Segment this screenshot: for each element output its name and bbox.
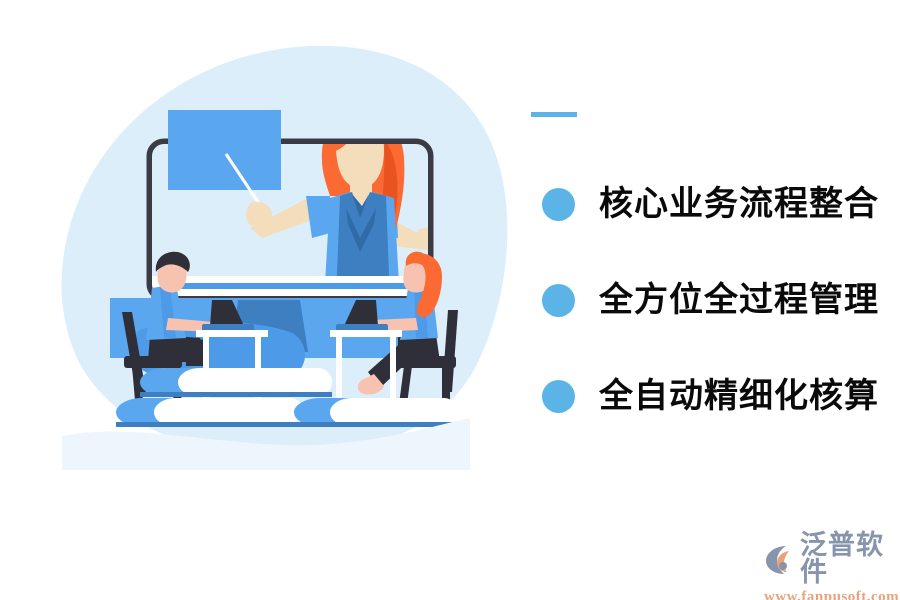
brand-top-row: 泛普软件 xyxy=(762,532,900,586)
feature-item-1[interactable]: 核心业务流程整合 xyxy=(542,156,892,252)
accent-rule xyxy=(531,112,577,117)
feature-label: 全方位全过程管理 xyxy=(599,283,879,317)
brand-url: www.fanpusoft.com xyxy=(764,589,899,600)
video-progress-bar[interactable] xyxy=(152,276,428,296)
feature-item-3[interactable]: 全自动精细化核算 xyxy=(542,348,892,444)
illustration xyxy=(0,0,520,600)
bullet-dot-icon xyxy=(542,188,575,221)
feature-label: 全自动精细化核算 xyxy=(599,379,879,413)
brand-name: 泛普软件 xyxy=(800,532,900,586)
fanpu-logo-icon xyxy=(762,542,796,576)
slide-canvas: 核心业务流程整合 全方位全过程管理 全自动精细化核算 泛普软件 xyxy=(0,0,900,600)
feature-item-2[interactable]: 全方位全过程管理 xyxy=(542,252,892,348)
feature-panel: 核心业务流程整合 全方位全过程管理 全自动精细化核算 xyxy=(530,100,890,117)
bullet-dot-icon xyxy=(542,284,575,317)
presentation-slide xyxy=(168,110,281,190)
feature-label: 核心业务流程整合 xyxy=(599,187,879,221)
feature-list: 核心业务流程整合 全方位全过程管理 全自动精细化核算 xyxy=(542,156,892,444)
brand-logo[interactable]: 泛普软件 www.fanpusoft.com xyxy=(762,532,900,600)
bullet-dot-icon xyxy=(542,380,575,413)
